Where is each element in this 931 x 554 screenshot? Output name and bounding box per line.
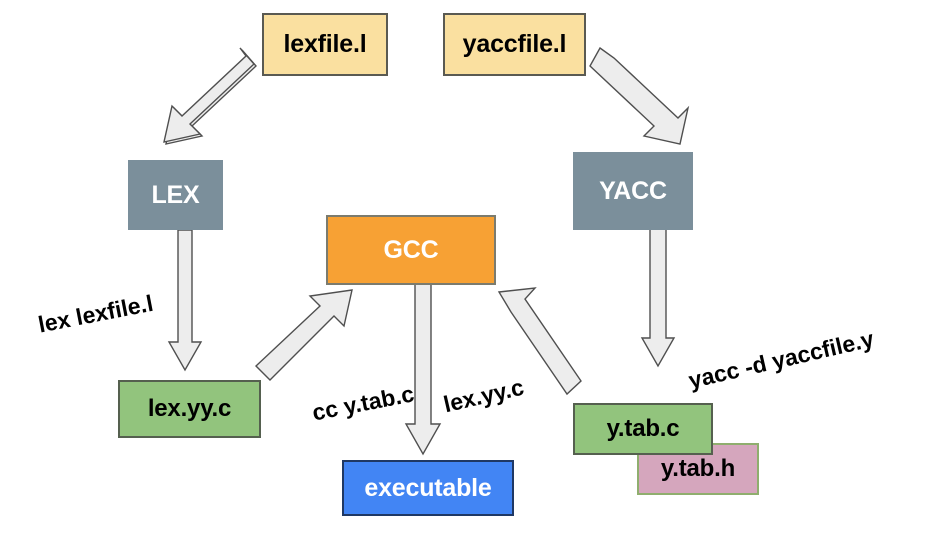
node-ytabh-label: y.tab.h <box>661 455 735 483</box>
block-arrow-down-left-icon <box>148 48 258 148</box>
node-lexfile[interactable]: lexfile.l <box>262 13 388 76</box>
block-arrow-up-right-icon <box>256 288 366 384</box>
node-executable[interactable]: executable <box>342 460 514 516</box>
node-ytabc-label: y.tab.c <box>607 415 680 443</box>
edge-label-lex-command: lex lexfile.l <box>36 290 155 339</box>
edge-label-cc-command: cc y.tab.c <box>310 380 416 426</box>
block-arrow-down-icon <box>168 230 202 372</box>
node-gcc-label: GCC <box>384 236 439 265</box>
block-arrow-down-icon <box>641 228 675 368</box>
node-yacc[interactable]: YACC <box>573 152 693 230</box>
node-lexyyc-label: lex.yy.c <box>148 395 231 423</box>
node-yacc-label: YACC <box>599 177 667 206</box>
diagram-canvas: lex lexfile.l yacc -d yaccfile.y cc y.ta… <box>0 0 931 554</box>
node-gcc[interactable]: GCC <box>326 215 496 285</box>
block-arrow-down-icon <box>405 284 441 456</box>
node-lex[interactable]: LEX <box>128 160 223 230</box>
node-lexyyc[interactable]: lex.yy.c <box>118 380 261 438</box>
node-lex-label: LEX <box>151 181 199 210</box>
node-executable-label: executable <box>364 474 491 503</box>
edge-label-yacc-command: yacc -d yaccfile.y <box>686 325 876 394</box>
node-lexfile-label: lexfile.l <box>284 30 367 59</box>
node-yaccfile[interactable]: yaccfile.l <box>443 13 586 76</box>
edge-label-lexyyc-input: lex.yy.c <box>441 374 526 419</box>
node-ytabc[interactable]: y.tab.c <box>573 403 713 455</box>
block-arrow-down-right-icon <box>590 48 700 148</box>
node-yaccfile-label: yaccfile.l <box>463 30 567 59</box>
